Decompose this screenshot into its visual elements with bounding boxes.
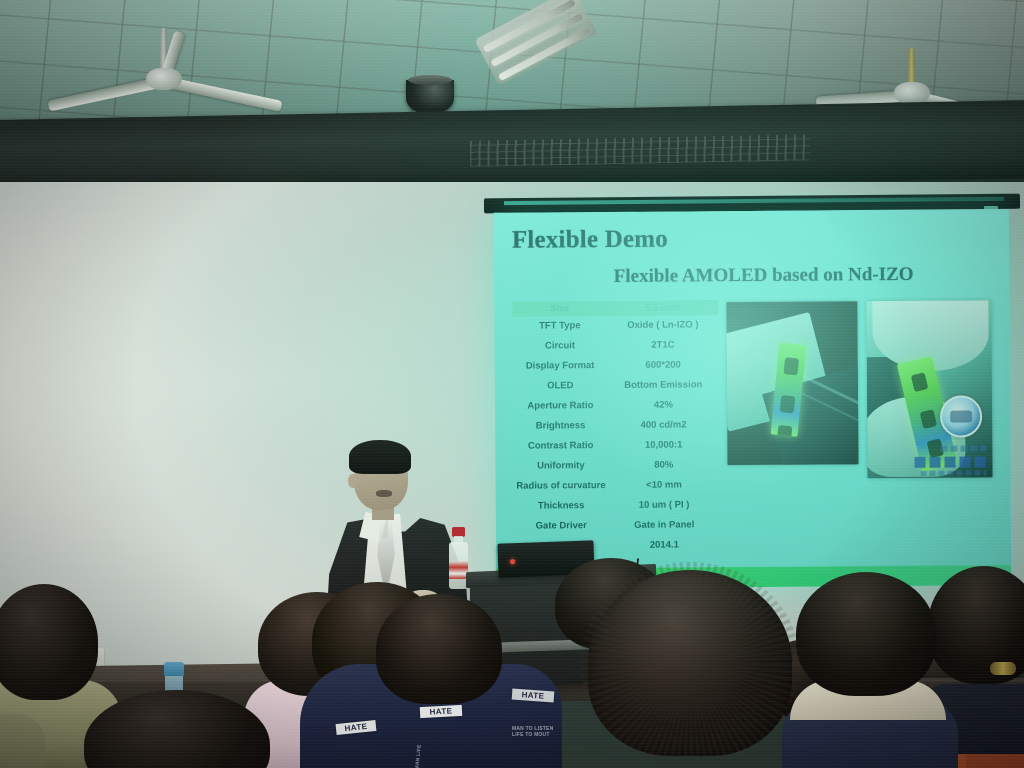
spec-header-size: Size bbox=[512, 303, 607, 315]
spec-table-row: Circuit2T1C bbox=[513, 335, 719, 356]
spec-key: Aperture Ratio bbox=[513, 399, 608, 414]
bottle-body bbox=[165, 675, 183, 691]
power-led-icon bbox=[510, 559, 515, 564]
audience-member-hate-jacket: HATE HATE HATE MAN TO LISTEN LIFE TO MOU… bbox=[300, 648, 562, 768]
spec-key: Gate Driver bbox=[514, 519, 609, 534]
spec-table-row: Gate DriverGate in Panel bbox=[514, 515, 720, 536]
logo-subtext bbox=[940, 445, 986, 451]
spec-key: Contrast Ratio bbox=[513, 439, 608, 454]
panel-figure bbox=[911, 372, 929, 392]
projection-screen: Flexible Demo Flexible AMOLED based on N… bbox=[494, 209, 1012, 589]
fan-hub bbox=[146, 68, 182, 90]
spec-value: 10,000:1 bbox=[608, 438, 719, 453]
dome-security-camera-icon bbox=[406, 80, 454, 114]
slide-photos bbox=[726, 298, 995, 555]
slide-title: Flexible Demo bbox=[512, 223, 993, 254]
fan-hub bbox=[894, 82, 930, 104]
spec-value: 600*200 bbox=[607, 358, 718, 373]
spec-table-row: OLEDBottom Emission bbox=[513, 375, 719, 396]
spec-table-row: Uniformity80% bbox=[513, 455, 719, 476]
spec-key: Radius of curvature bbox=[514, 479, 609, 494]
spec-key: Uniformity bbox=[513, 459, 608, 474]
slide-body: Size 5.5 inch TFT TypeOxide ( Ln-IZO )Ci… bbox=[512, 298, 995, 556]
spec-value: Oxide ( Ln-IZO ) bbox=[607, 318, 718, 333]
spec-value: <10 mm bbox=[608, 478, 719, 493]
spec-key: Display Format bbox=[513, 359, 608, 374]
spec-value: 2T1C bbox=[607, 338, 718, 353]
spec-key: OLED bbox=[513, 379, 608, 394]
presenter-hair bbox=[349, 440, 411, 474]
spec-table-row: Brightness400 cd/m2 bbox=[513, 415, 719, 436]
spec-value: Bottom Emission bbox=[608, 378, 719, 393]
presentation-slide: Flexible Demo Flexible AMOLED based on N… bbox=[494, 209, 1012, 589]
institution-logo-icon bbox=[940, 395, 982, 437]
photo-blue-caption bbox=[914, 456, 988, 468]
spec-table-row: Display Format600*200 bbox=[513, 355, 719, 376]
hair-texture bbox=[580, 562, 800, 764]
fan-rod bbox=[908, 48, 915, 84]
spec-key: Brightness bbox=[513, 419, 608, 434]
presenter-ear bbox=[348, 474, 357, 488]
presenter-mouth bbox=[376, 490, 392, 497]
spec-table-header-row: Size 5.5 inch bbox=[512, 300, 718, 316]
spec-value: 2014.1 bbox=[609, 538, 720, 553]
valance-texture bbox=[470, 134, 810, 167]
panel-figure bbox=[783, 357, 799, 375]
blue-water-bottle bbox=[164, 662, 184, 690]
spec-table: Size 5.5 inch TFT TypeOxide ( Ln-IZO )Ci… bbox=[512, 300, 720, 556]
photo-blue-subcaption bbox=[921, 470, 987, 475]
panel-figure bbox=[920, 409, 938, 429]
spec-key: TFT Type bbox=[512, 319, 607, 334]
jacket-patch: HATE bbox=[420, 705, 463, 718]
spec-value: 400 cd/m2 bbox=[608, 418, 719, 433]
hair-clip-icon bbox=[990, 662, 1016, 675]
spec-header-value: 5.5 inch bbox=[607, 302, 718, 314]
audience-head bbox=[84, 690, 270, 768]
audience-member-center-fuzzy bbox=[588, 570, 798, 768]
lecture-hall-photo: Flexible Demo Flexible AMOLED based on N… bbox=[0, 0, 1024, 768]
spec-table-row: Radius of curvature<10 mm bbox=[514, 475, 720, 496]
spec-key: Thickness bbox=[514, 499, 609, 514]
bottle-cap bbox=[164, 662, 184, 676]
audience-head bbox=[376, 594, 502, 704]
panel-figure bbox=[779, 395, 795, 413]
audience-member-foreground-left bbox=[84, 690, 274, 768]
jacket-microtext: MAN TO LISTEN LIFE TO MOUT bbox=[512, 726, 562, 738]
panel-figure bbox=[776, 425, 792, 437]
spec-table-row: Aperture Ratio42% bbox=[513, 395, 719, 416]
photo-flexible-display-bent bbox=[726, 301, 858, 465]
audience-member-fleece-collar bbox=[796, 572, 944, 768]
spec-table-row: TFT TypeOxide ( Ln-IZO ) bbox=[512, 315, 718, 336]
slide-subtitle: Flexible AMOLED based on Nd-IZO bbox=[534, 263, 993, 288]
spec-value: 10 um ( PI ) bbox=[608, 498, 719, 513]
spec-table-body: TFT TypeOxide ( Ln-IZO )Circuit2T1CDispl… bbox=[512, 315, 720, 556]
spec-table-row: Thickness10 um ( PI ) bbox=[514, 495, 720, 516]
audience-head bbox=[588, 570, 792, 756]
spec-value: 80% bbox=[608, 458, 719, 473]
spec-table-row: Contrast Ratio10,000:1 bbox=[513, 435, 719, 456]
audience-head bbox=[796, 572, 936, 696]
audience-head bbox=[0, 584, 98, 700]
spec-key: Circuit bbox=[513, 339, 608, 354]
photo-flexible-display-in-hand bbox=[866, 300, 992, 478]
spec-value: Gate in Panel bbox=[609, 518, 720, 533]
spec-value: 42% bbox=[608, 398, 719, 413]
